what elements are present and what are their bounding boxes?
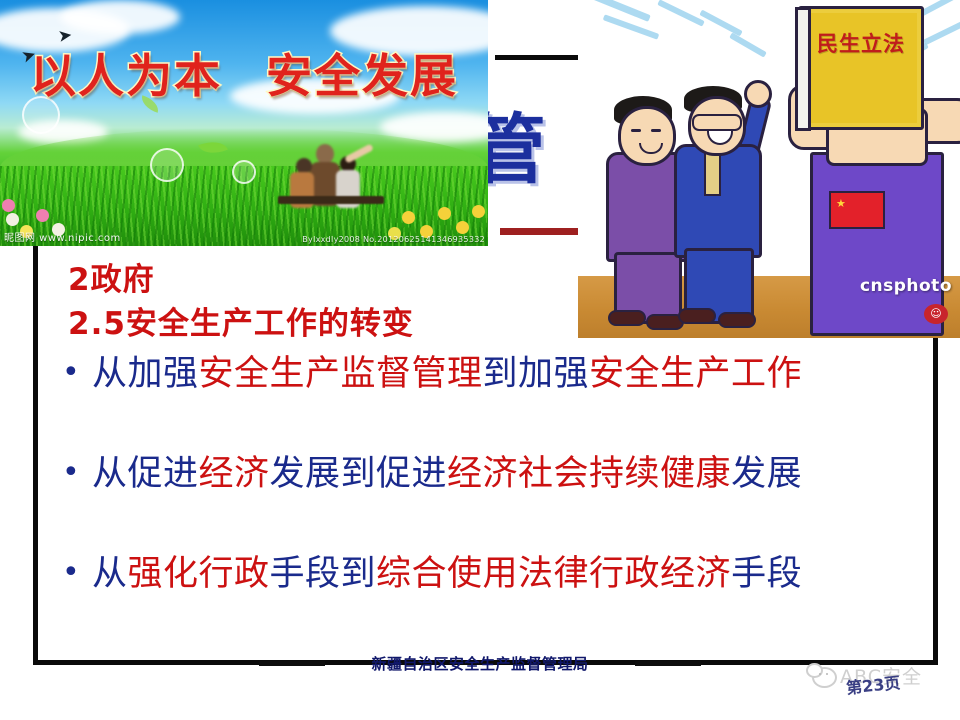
china-flag-icon: ★ [829, 191, 885, 229]
book-title-text: 民生立法 [801, 31, 921, 57]
bullet-segment: 从加强 [92, 354, 199, 394]
pedestal-shape: ★ [810, 152, 944, 336]
bullet-segment: 安全生产工作 [589, 354, 802, 394]
bullet-text: 从加强安全生产监督管理到加强安全生产工作 [92, 352, 802, 396]
page-number: 第23页 [845, 669, 901, 699]
nipic-image-id: Bylxxdly2008 No.20120625141346935332 [302, 235, 485, 244]
list-item: • 从促进经济发展到促进经济社会持续健康发展 [62, 452, 932, 496]
bullet-segment: 从促进 [92, 454, 199, 494]
shoe-shape [608, 310, 646, 326]
bullet-segment: 到加强 [483, 354, 590, 394]
bullet-segment: 发展 [731, 454, 802, 494]
bullet-segment: 从 [92, 554, 128, 594]
shoe-shape [678, 308, 716, 324]
pointing-hand-icon [744, 80, 772, 108]
cartoon-illustration: ★ 民生立法 [578, 0, 960, 338]
nipic-watermark: 昵图网 www.nipic.com [4, 229, 121, 244]
glasses-icon [692, 114, 742, 131]
bullet-segment: 强化行政 [128, 554, 270, 594]
book-spine [795, 7, 811, 131]
bullet-segment: 经济社会持续健康 [447, 454, 731, 494]
banner-headline: 以人为本安全发展 [0, 40, 488, 106]
bubble-shape [232, 160, 256, 184]
bullet-segment: 综合使用法律行政经济 [376, 554, 731, 594]
bubble-shape [150, 148, 184, 182]
slide-canvas: 管 ➤ ➤ [0, 0, 960, 720]
cloud-shape [60, 0, 180, 34]
banner-headline-left: 以人为本 [30, 49, 222, 103]
footer-rule-left [259, 661, 325, 666]
shoe-shape [718, 312, 756, 328]
bullet-text: 从强化行政手段到综合使用法律行政经济手段 [92, 552, 802, 596]
list-item: • 从加强安全生产监督管理到加强安全生产工作 [62, 352, 932, 396]
footer-rule-right [635, 661, 701, 666]
bullet-marker: • [62, 452, 92, 494]
face-shape [618, 106, 676, 166]
bullet-segment: 发展到促进 [270, 454, 448, 494]
bullet-segment: 经济 [199, 454, 270, 494]
cns-logo-icon: ☺ [924, 304, 948, 324]
bullet-segment: 手段到 [270, 554, 377, 594]
bullet-segment: 安全生产监督管理 [199, 354, 483, 394]
bullet-marker: • [62, 552, 92, 594]
book-prop: 民生立法 [798, 6, 924, 130]
list-item: • 从强化行政手段到综合使用法律行政经济手段 [62, 552, 932, 596]
bullet-list: • 从加强安全生产监督管理到加强安全生产工作 • 从促进经济发展到促进经济社会持… [62, 352, 932, 652]
footer-organization: 新疆自治区安全生产监督管理局 [371, 653, 588, 674]
man-blue-suit [670, 78, 764, 322]
banner-photo: ➤ ➤ 以人为 [0, 0, 488, 246]
banner-headline-right: 安全发展 [266, 49, 458, 103]
cnsphoto-credit: cnsphoto [860, 276, 952, 296]
wechat-icon [806, 663, 836, 688]
subsection-heading: 2.5安全生产工作的转变 [68, 298, 414, 343]
section-heading: 2政府 [68, 254, 155, 299]
bullet-text: 从促进经济发展到促进经济社会持续健康发展 [92, 452, 802, 496]
bullet-marker: • [62, 352, 92, 394]
bullet-segment: 手段 [731, 554, 802, 594]
